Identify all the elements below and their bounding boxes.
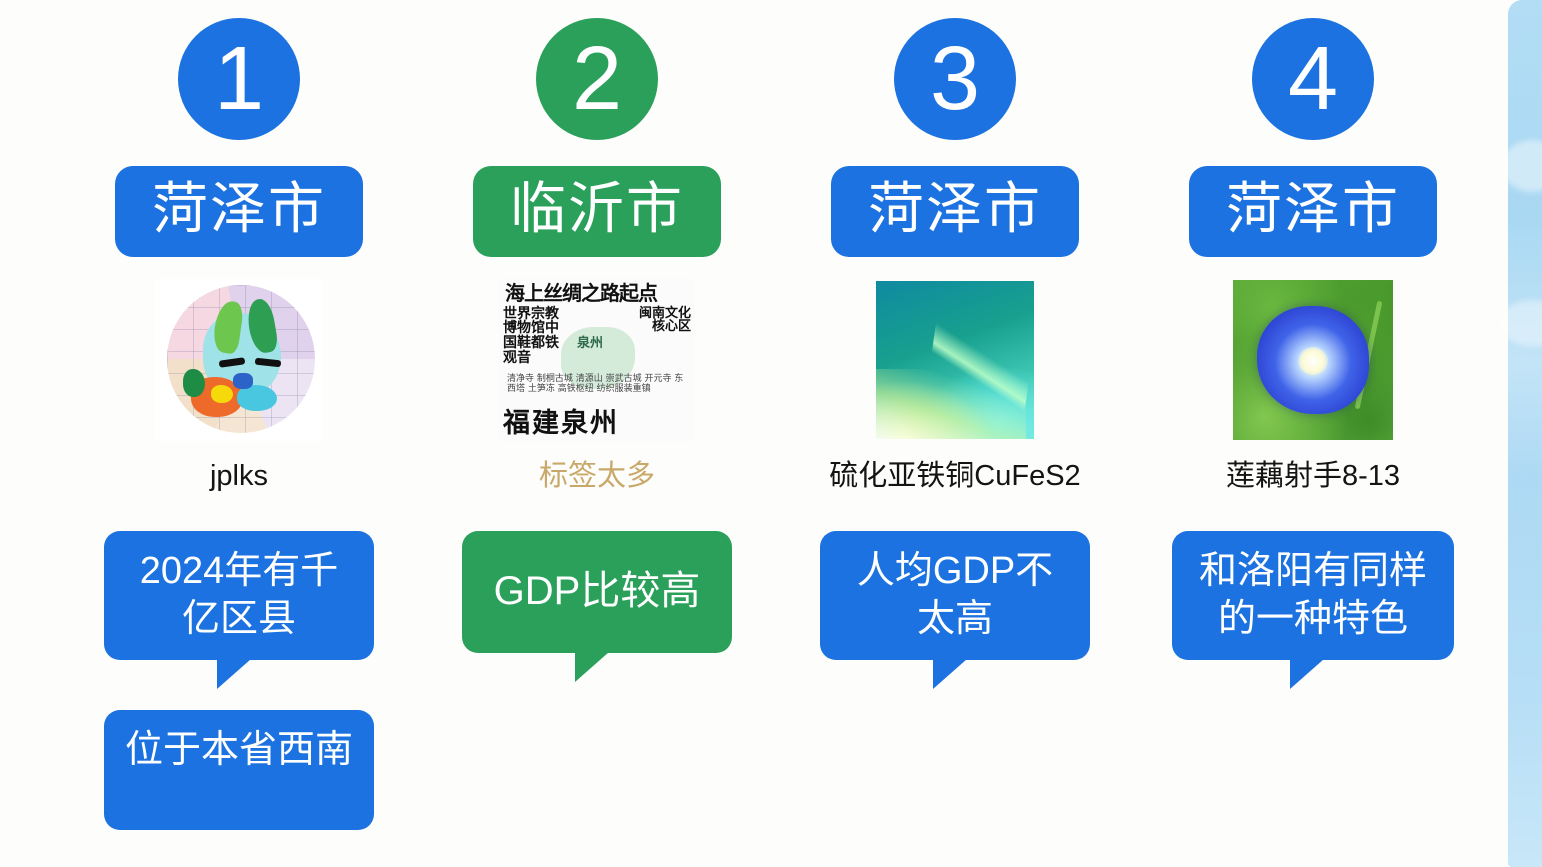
map-region-blue [233,373,253,389]
speech-bubble-2a-text: GDP比较高 [494,566,701,617]
bubble-slot-1b: 位于本省西南 [60,710,418,830]
caption-1: jplks [210,459,268,495]
speech-bubble-1a[interactable]: 2024年有千亿区县 [104,531,374,660]
word-cloud-right-text: 闽南文化核心区 [633,307,691,334]
word-cloud-top-text: 海上丝绸之路起点 [505,283,657,303]
map-region-green [183,369,205,397]
speech-bubble-2a[interactable]: GDP比较高 [462,531,732,653]
speech-bubble-1b-text: 位于本省西南 [125,726,353,775]
thumbnail-slot-1 [155,279,323,441]
quanzhou-word-cloud-thumbnail[interactable]: 海上丝绸之路起点 世界宗教博物馆中国鞋都铁观音 闽南文化核心区 泉州 清净寺 制… [499,279,695,441]
caption-4: 莲藕射手8-13 [1226,459,1400,495]
rank-badge-1[interactable]: 1 [178,18,300,140]
bubble-tail-icon [217,659,251,689]
caption-3: 硫化亚铁铜CuFeS2 [829,459,1080,495]
bubble-slot-2a: GDP比较高 [418,531,776,653]
flower-core [1298,347,1328,375]
bubble-slot-4a: 和洛阳有同样的一种特色 [1134,531,1492,660]
aurora-gradient-thumbnail[interactable] [876,281,1034,439]
column-2: 2 临沂市 海上丝绸之路起点 世界宗教博物馆中国鞋都铁观音 闽南文化核心区 泉州… [418,0,776,653]
city-label-4[interactable]: 菏泽市 [1189,166,1437,257]
region-map-thumbnail[interactable] [155,279,323,441]
bubble-tail-icon [1290,659,1324,689]
speech-bubble-4a[interactable]: 和洛阳有同样的一种特色 [1172,531,1454,660]
rank-badge-2[interactable]: 2 [536,18,658,140]
bubble-tail-icon [933,659,967,689]
bubble-tail-icon [575,652,609,682]
word-cloud-left-text: 世界宗教博物馆中国鞋都铁观音 [503,307,565,366]
speech-bubble-4a-text: 和洛阳有同样的一种特色 [1190,547,1436,644]
rank-badge-3[interactable]: 3 [894,18,1016,140]
column-4: 4 菏泽市 莲藕射手8-13 和洛阳有同样的一种特色 [1134,0,1492,660]
word-cloud-small-text: 清净寺 制桐古城 清源山 崇武古城 开元寺 东西塔 土笋冻 高铁枢纽 纺织服装重… [507,375,687,395]
city-label-2[interactable]: 临沂市 [473,166,721,257]
thumbnail-slot-4 [1233,279,1393,441]
city-label-3[interactable]: 菏泽市 [831,166,1079,257]
speech-bubble-1a-text: 2024年有千亿区县 [122,547,356,644]
map-disc [167,285,315,433]
bubble-slot-1a: 2024年有千亿区县 [60,531,418,660]
word-cloud-bottom-text: 福建泉州 [503,410,619,437]
morning-glory-flower-thumbnail[interactable] [1233,280,1393,440]
column-3: 3 菏泽市 硫化亚铁铜CuFeS2 人均GDP不太高 [776,0,1134,660]
city-label-1[interactable]: 菏泽市 [115,166,363,257]
speech-bubble-1b[interactable]: 位于本省西南 [104,710,374,830]
thumbnail-slot-2: 海上丝绸之路起点 世界宗教博物馆中国鞋都铁观音 闽南文化核心区 泉州 清净寺 制… [499,279,695,441]
column-1: 1 菏泽市 [60,0,418,830]
comparison-board: 1 菏泽市 [0,0,1542,867]
word-cloud-center-text: 泉州 [577,337,603,350]
columns-container: 1 菏泽市 [60,0,1492,830]
caption-2: 标签太多 [539,459,655,495]
thumbnail-slot-3 [876,279,1034,441]
rank-badge-4[interactable]: 4 [1252,18,1374,140]
speech-bubble-3a-text: 人均GDP不太高 [838,547,1072,644]
map-region-yellow [211,385,233,403]
speech-bubble-3a[interactable]: 人均GDP不太高 [820,531,1090,660]
bubble-slot-3a: 人均GDP不太高 [776,531,1134,660]
